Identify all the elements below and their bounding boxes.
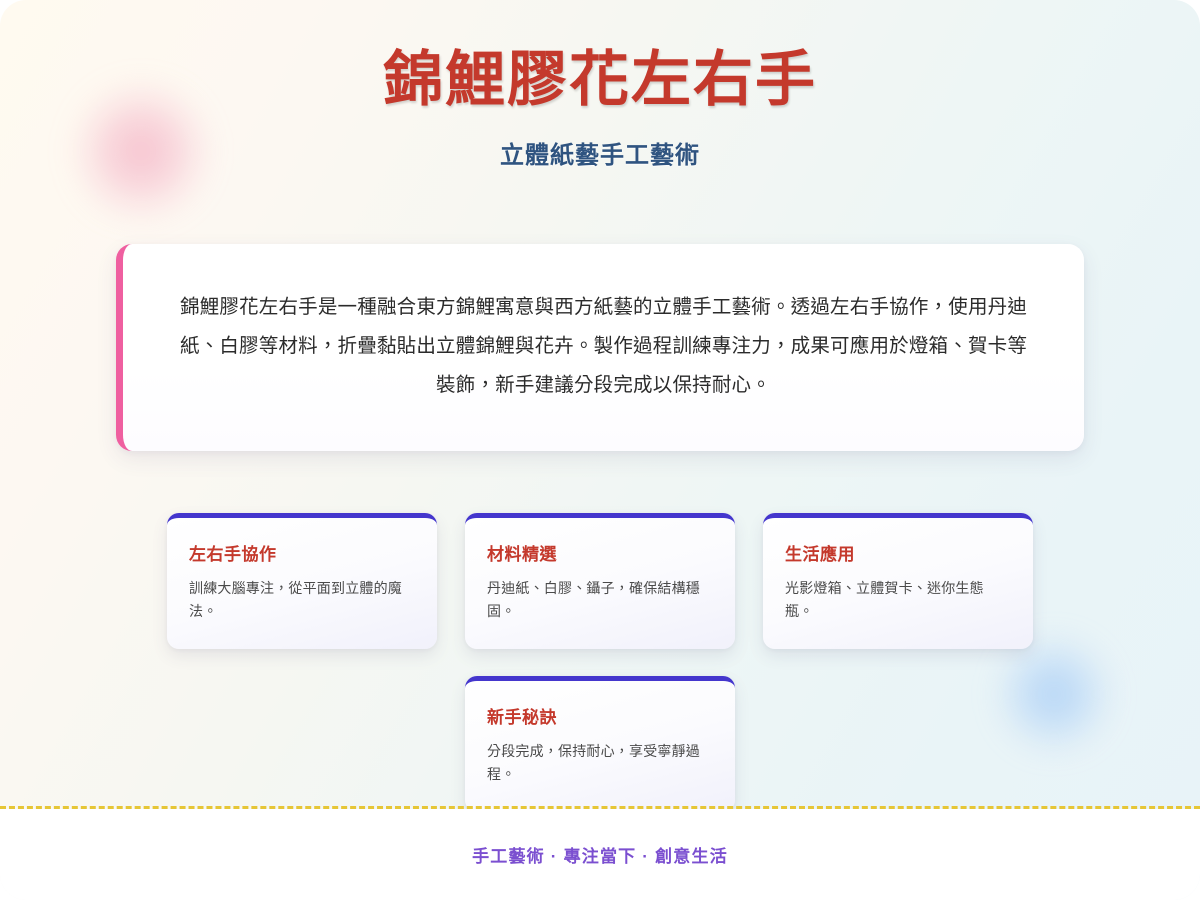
feature-card-body: 光影燈箱、立體賀卡、迷你生態瓶。 xyxy=(785,577,1011,623)
feature-card-3[interactable]: 生活應用 光影燈箱、立體賀卡、迷你生態瓶。 xyxy=(763,513,1033,649)
feature-card-body: 分段完成，保持耐心，享受寧靜過程。 xyxy=(487,740,713,786)
feature-card-title: 材料精選 xyxy=(487,540,713,565)
page-footer: 手工藝術 · 專注當下 · 創意生活 xyxy=(0,806,1200,900)
page-root: 錦鯉膠花左右手 立體紙藝手工藝術 錦鯉膠花左右手是一種融合東方錦鯉寓意與西方紙藝… xyxy=(0,0,1200,900)
feature-card-title: 新手秘訣 xyxy=(487,703,713,728)
footer-bar: 手工藝術 · 專注當下 · 創意生活 xyxy=(0,809,1200,900)
feature-card-body: 丹迪紙、白膠、鑷子，確保結構穩固。 xyxy=(487,577,713,623)
description-section: 錦鯉膠花左右手是一種融合東方錦鯉寓意與西方紙藝的立體手工藝術。透過左右手協作，使… xyxy=(116,244,1084,451)
feature-card-title: 左右手協作 xyxy=(189,540,415,565)
description-card: 錦鯉膠花左右手是一種融合東方錦鯉寓意與西方紙藝的立體手工藝術。透過左右手協作，使… xyxy=(116,244,1084,451)
page-subtitle: 立體紙藝手工藝術 xyxy=(0,135,1200,170)
footer-tagline: 手工藝術 · 專注當下 · 創意生活 xyxy=(472,842,728,867)
feature-card-grid: 左右手協作 訓練大腦專注，從平面到立體的魔法。 材料精選 丹迪紙、白膠、鑷子，確… xyxy=(167,513,1033,812)
description-text: 錦鯉膠花左右手是一種融合東方錦鯉寓意與西方紙藝的立體手工藝術。透過左右手協作，使… xyxy=(179,288,1028,405)
feature-card-title: 生活應用 xyxy=(785,540,1011,565)
feature-card-4[interactable]: 新手秘訣 分段完成，保持耐心，享受寧靜過程。 xyxy=(465,676,735,812)
feature-card-1[interactable]: 左右手協作 訓練大腦專注，從平面到立體的魔法。 xyxy=(167,513,437,649)
feature-card-body: 訓練大腦專注，從平面到立體的魔法。 xyxy=(189,577,415,623)
page-header: 錦鯉膠花左右手 立體紙藝手工藝術 xyxy=(0,0,1200,170)
feature-card-2[interactable]: 材料精選 丹迪紙、白膠、鑷子，確保結構穩固。 xyxy=(465,513,735,649)
page-title: 錦鯉膠花左右手 xyxy=(0,48,1200,113)
